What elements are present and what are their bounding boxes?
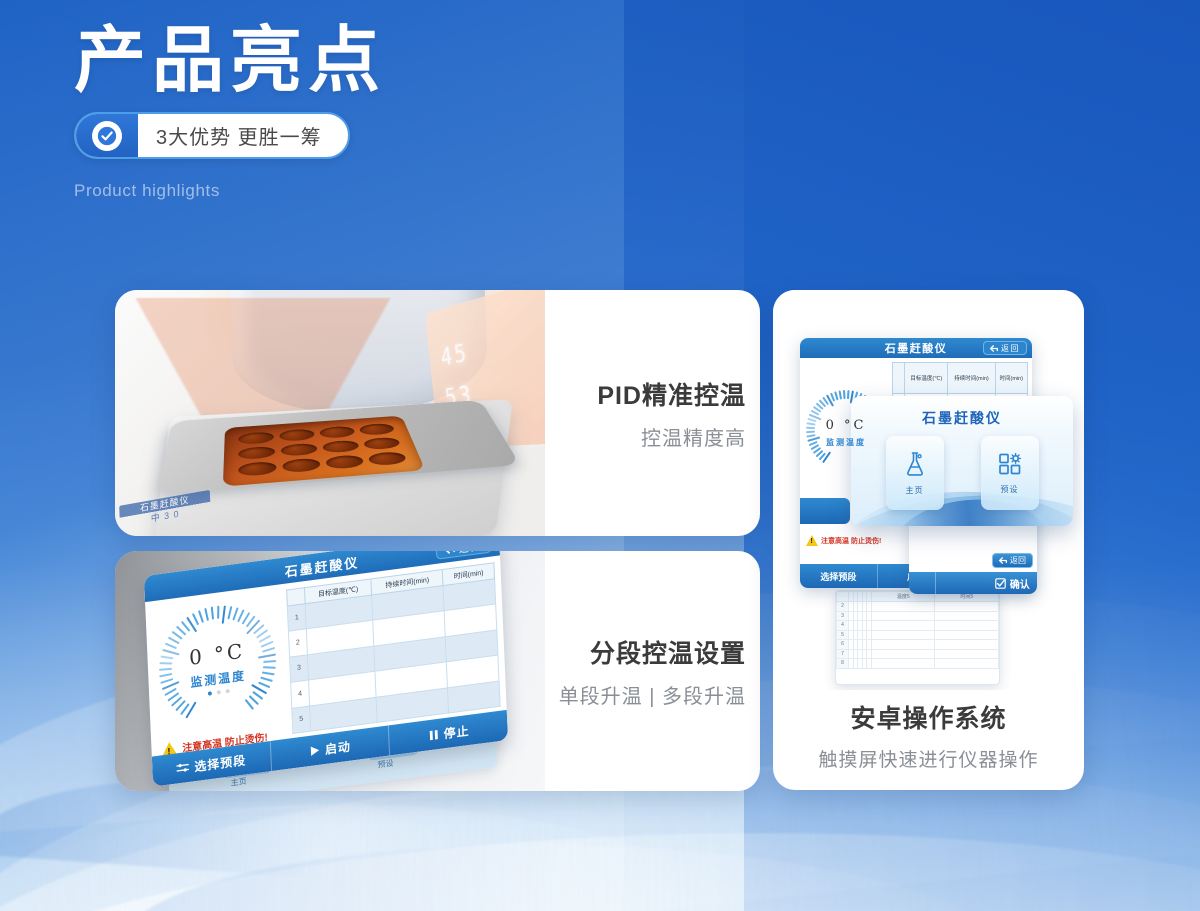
flask-icon	[903, 451, 927, 477]
ghost-preset-label: 预设	[377, 758, 393, 771]
preset-back-label: 返回	[1010, 555, 1026, 566]
feature-card-segment[interactable]: 主页 预设 石墨赶酸仪 返回	[115, 551, 760, 791]
sample-well	[319, 426, 356, 439]
segment-media-photo: 主页 预设 石墨赶酸仪 返回	[115, 551, 545, 791]
control-screen-titlebar: 石墨赶酸仪 返回	[800, 338, 1032, 358]
home-preset-button[interactable]: 预设	[981, 436, 1039, 510]
control-screen-title: 石墨赶酸仪	[885, 340, 948, 356]
feature-card-android[interactable]: 温度5 时间5 2 3 4 5 6 7 8 石墨赶酸仪 返回	[773, 290, 1084, 790]
warning-text: 注意高温 防止烫伤!	[821, 536, 881, 546]
advantage-badge: 3大优势 更胜一筹	[74, 112, 350, 159]
pid-card-subtitle: 控温精度高	[641, 422, 746, 451]
table-row: 4	[837, 621, 999, 631]
home-screen-title: 石墨赶酸仪	[851, 408, 1073, 428]
sample-well	[238, 446, 275, 460]
back-arrow-icon	[445, 551, 455, 554]
android-card-text: 安卓操作系统 触摸屏快速进行仪器操作	[773, 699, 1084, 772]
control-back-button[interactable]: 返回	[983, 341, 1027, 355]
segment-card-subtitle: 单段升温 | 多段升温	[559, 680, 746, 709]
table-header-row: 目标温度(℃) 持续时间(min) 时间(min)	[893, 363, 1028, 394]
preset-back-button[interactable]: 返回	[992, 553, 1033, 568]
display-readout-1: 45	[439, 319, 545, 372]
android-home-screen[interactable]: 石墨赶酸仪 主页	[851, 396, 1073, 526]
select-preset-button[interactable]: 选择预段	[800, 564, 878, 588]
segment-card-text: 分段控温设置 单段升温 | 多段升温	[545, 551, 760, 791]
gauge-label: 监测温度	[826, 437, 866, 448]
stop-label: 停止	[443, 721, 470, 741]
android-media-area: 温度5 时间5 2 3 4 5 6 7 8 石墨赶酸仪 返回	[773, 290, 1084, 690]
sample-well	[363, 437, 402, 451]
ghost-home-label: 主页	[231, 776, 247, 789]
sample-well	[358, 423, 395, 436]
android-card-subtitle: 触摸屏快速进行仪器操作	[818, 745, 1038, 772]
android-card-title: 安卓操作系统	[850, 699, 1006, 735]
grid-gear-icon	[998, 452, 1022, 476]
sample-well	[282, 458, 321, 473]
pause-icon	[428, 728, 439, 740]
pid-card-text: PID精准控温 控温精度高	[545, 290, 760, 536]
sample-well	[238, 431, 274, 444]
segment-program-table: 目标温度(℃) 持续时间(min) 时间(min) 1 2 3 4 5	[286, 562, 501, 734]
page-title: 产品亮点	[74, 22, 634, 98]
home-main-button[interactable]: 主页	[886, 436, 944, 510]
home-button-row: 主页 预设	[851, 436, 1073, 510]
table-row: 2	[837, 602, 999, 612]
table-row: 8	[837, 659, 999, 669]
start-label: 启动	[325, 737, 352, 757]
sample-well	[279, 428, 315, 441]
back-arrow-icon	[990, 345, 998, 352]
home-main-label: 主页	[906, 485, 924, 496]
table-row: 7	[837, 649, 999, 659]
table-row: 3	[837, 611, 999, 621]
control-back-label: 返回	[1001, 343, 1020, 354]
temperature-gauge: 0 °C 监测温度	[145, 584, 290, 753]
android-high-temp-warning: 注意高温 防止烫伤!	[806, 535, 881, 546]
side-tab-chip	[800, 498, 850, 524]
confirm-label: 确认	[1010, 576, 1030, 591]
gauge-value: 0 °C	[826, 418, 867, 433]
sample-well	[367, 451, 407, 466]
page-subtitle: Product highlights	[74, 181, 634, 201]
pid-card-title: PID精准控温	[597, 376, 746, 412]
page-header: 产品亮点 3大优势 更胜一筹 Product highlights	[74, 22, 634, 201]
feature-card-pid[interactable]: 45 53 石墨赶酸仪 中 3 0 PID精准控温	[115, 290, 760, 536]
confirm-button[interactable]: 确认	[936, 572, 1038, 594]
clear-all-button[interactable]: 全部清除	[909, 572, 936, 594]
check-circle-icon	[92, 121, 122, 151]
select-preset-label: 选择预段	[194, 751, 246, 775]
back-button-label: 返回	[458, 551, 482, 555]
preset-action-bar: 全部清除 确认	[909, 572, 1037, 594]
table-row: 6	[837, 640, 999, 650]
sample-wells	[238, 423, 407, 477]
nameplate-bottom-text: 中 3 0	[151, 508, 180, 523]
badge-label: 3大优势 更胜一筹	[138, 114, 348, 157]
warning-triangle-icon	[806, 535, 818, 546]
data-grid-table: 温度5 时间5 2 3 4 5 6 7 8	[836, 591, 999, 669]
play-icon	[309, 744, 320, 756]
sample-well	[325, 455, 365, 470]
table-row: 5	[837, 630, 999, 640]
sample-well	[322, 440, 360, 454]
data-grid-screen[interactable]: 温度5 时间5 2 3 4 5 6 7 8	[835, 590, 1000, 685]
pid-media-photo: 45 53 石墨赶酸仪 中 3 0	[115, 290, 545, 536]
sliders-icon	[176, 761, 189, 774]
segment-card-title: 分段控温设置	[590, 634, 746, 670]
sample-well	[238, 461, 277, 477]
checkbox-icon	[995, 578, 1006, 589]
badge-icon-area	[76, 114, 138, 157]
home-preset-label: 预设	[1001, 484, 1019, 495]
sample-well	[280, 443, 318, 457]
back-arrow-icon	[999, 557, 1007, 564]
